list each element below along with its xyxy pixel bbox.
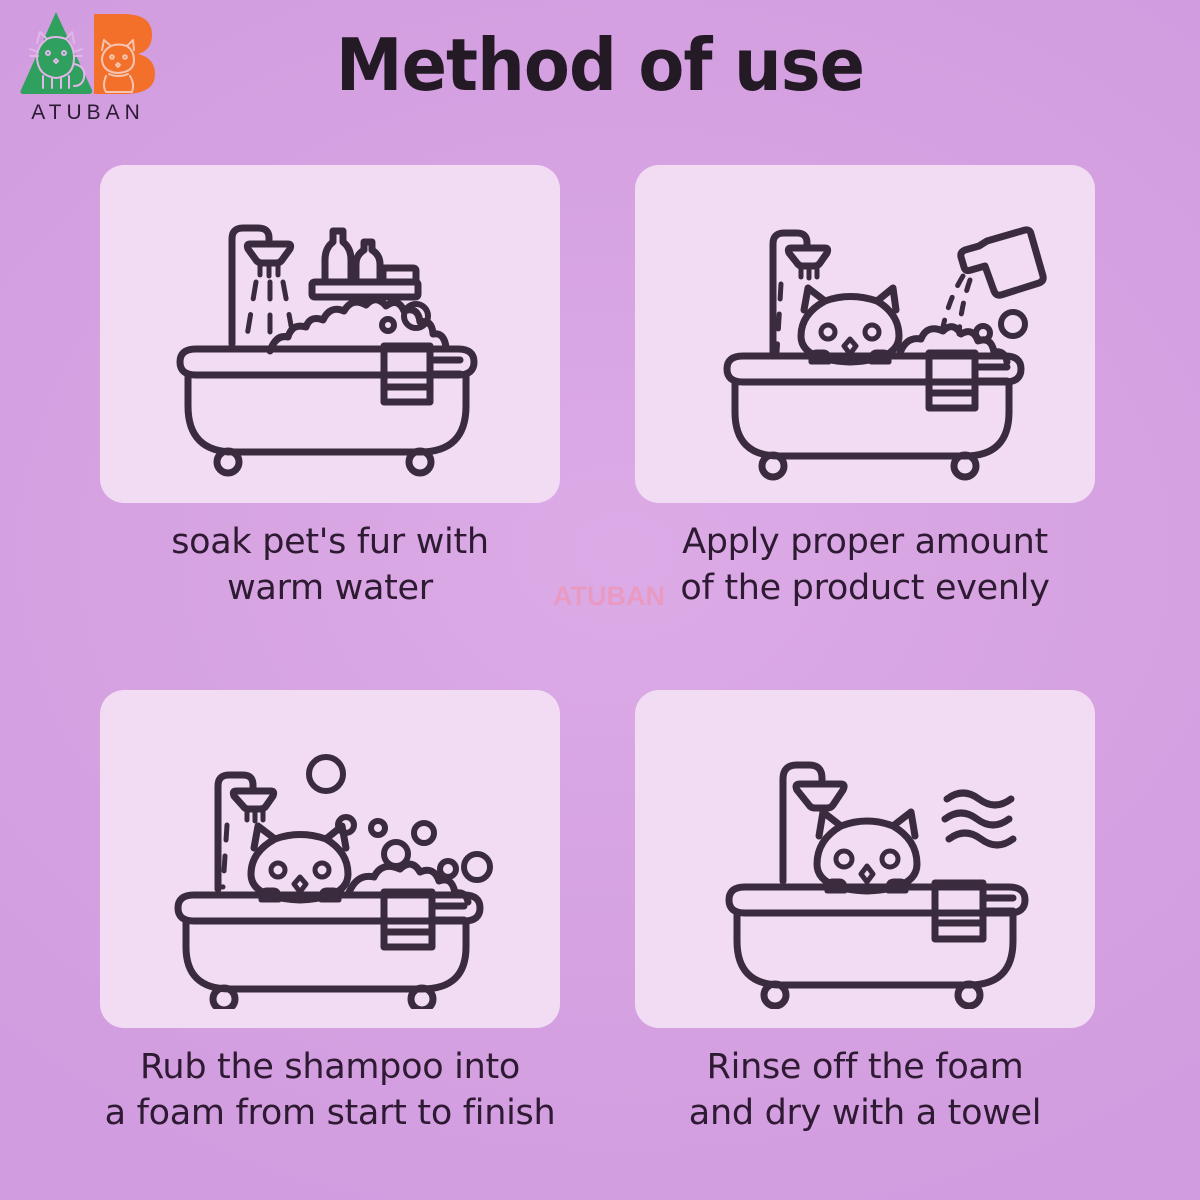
step-4: Rinse off the foam and dry with a towel <box>635 690 1095 1136</box>
bathtub-cat-towel-dry-icon <box>665 709 1065 1009</box>
bathtub-shower-bottles-icon <box>130 184 530 484</box>
step-1-illustration-card <box>100 165 560 503</box>
step-4-caption: Rinse off the foam and dry with a towel <box>605 1044 1125 1136</box>
step-4-illustration-card <box>635 690 1095 1028</box>
step-3: Rub the shampoo into a foam from start t… <box>100 690 560 1136</box>
step-2-caption: Apply proper amount of the product evenl… <box>635 519 1095 611</box>
method-of-use-infographic: ATUBAN Method of use ATUBAN <box>0 0 1200 1200</box>
bathtub-cat-foam-bubbles-icon <box>130 709 530 1009</box>
bathtub-cat-shampoo-bottle-icon <box>665 184 1065 484</box>
step-3-illustration-card <box>100 690 560 1028</box>
step-2: Apply proper amount of the product evenl… <box>635 165 1095 611</box>
step-1: soak pet's fur with warm water <box>100 165 560 611</box>
step-2-illustration-card <box>635 165 1095 503</box>
step-3-caption: Rub the shampoo into a foam from start t… <box>70 1044 590 1136</box>
page-title: Method of use <box>42 24 1158 107</box>
step-1-caption: soak pet's fur with warm water <box>100 519 560 611</box>
